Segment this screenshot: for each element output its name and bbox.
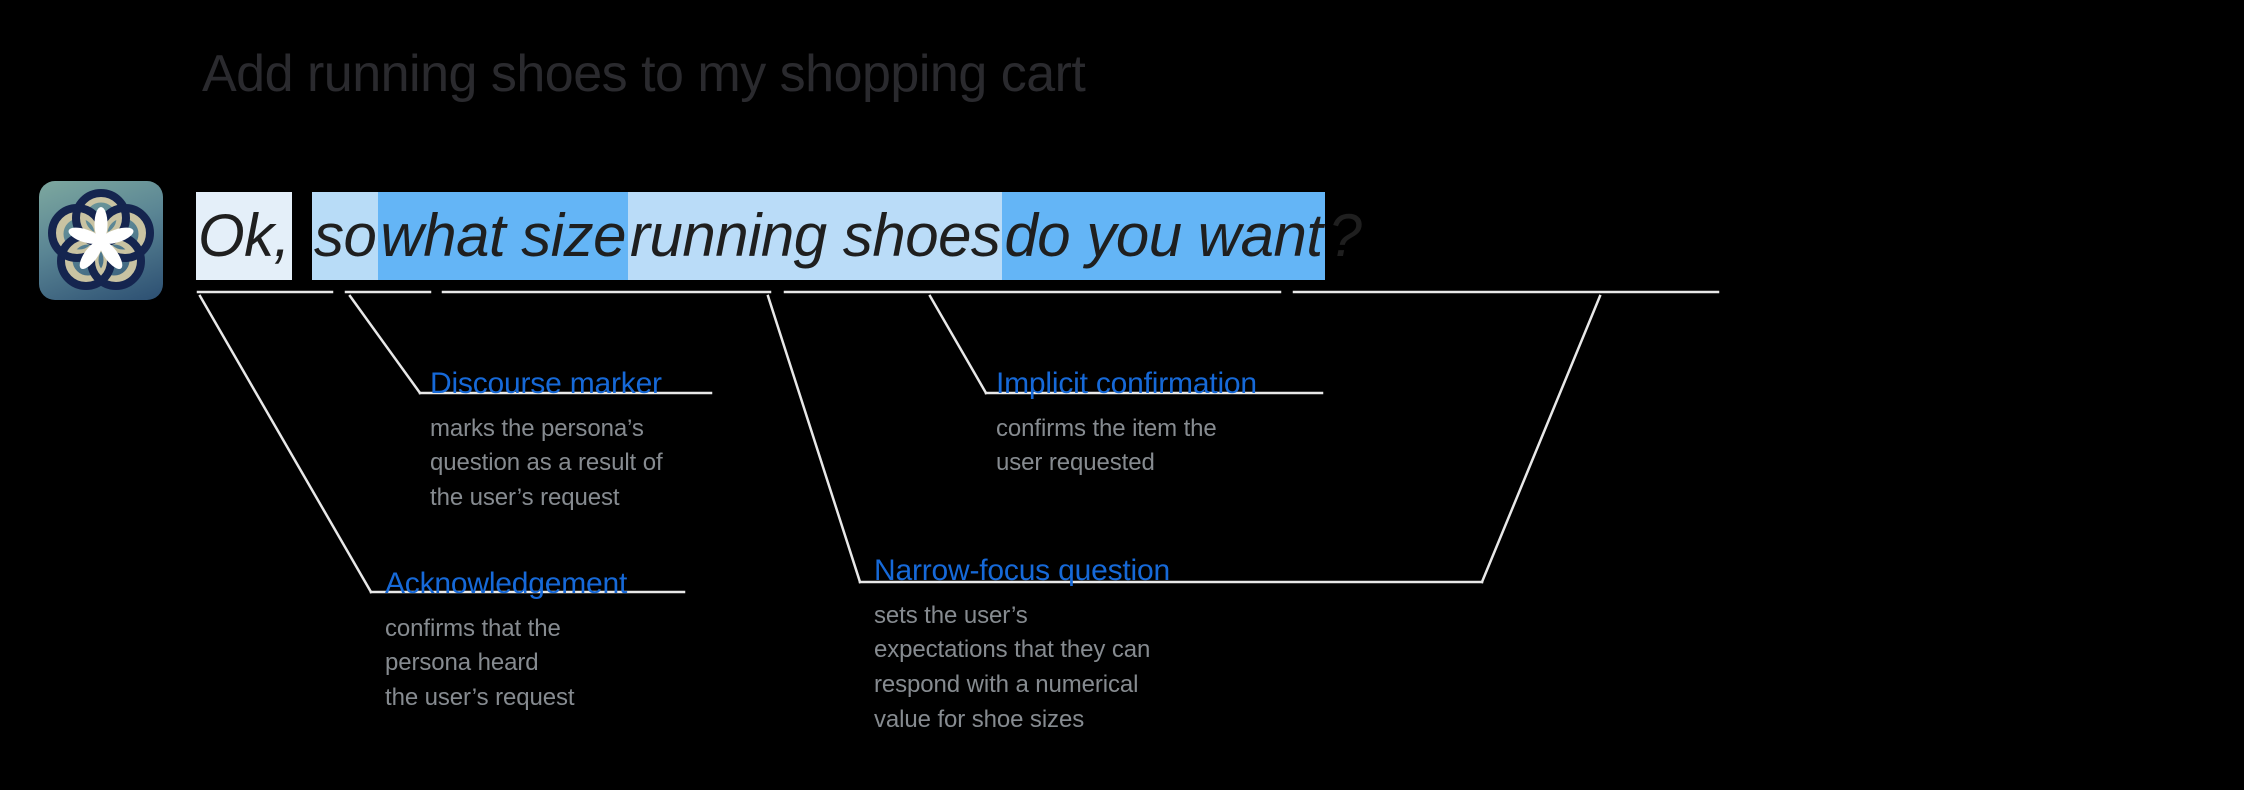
connector-so-to-discourse	[350, 296, 420, 393]
annotation-discourse-marker: Discourse marker marks the persona’s que…	[430, 368, 663, 516]
utterance-segment-so[interactable]: so	[312, 192, 378, 280]
annotation-line: persona heard	[385, 646, 627, 681]
utterance-segment-what-size[interactable]: what size	[378, 192, 628, 280]
annotation-acknowledgement: Acknowledgement confirms that the person…	[385, 568, 627, 716]
annotation-title[interactable]: Narrow-focus question	[874, 555, 1170, 587]
annotation-line: confirms the item the	[996, 412, 1257, 447]
connector-ok-to-acknowledgement	[200, 296, 371, 592]
connector-whatsize-to-narrow	[768, 296, 860, 582]
annotation-line: the user’s request	[430, 481, 663, 516]
annotation-title[interactable]: Implicit confirmation	[996, 368, 1257, 400]
annotation-line: confirms that the	[385, 612, 627, 647]
annotation-line: value for shoe sizes	[874, 703, 1170, 738]
persona-avatar	[39, 181, 163, 300]
persona-utterance: Ok, sowhat sizerunning shoesdo you want?	[196, 192, 1363, 280]
utterance-segment-do-you-want[interactable]: do you want	[1002, 192, 1324, 280]
annotation-implicit-confirmation: Implicit confirmation confirms the item …	[996, 368, 1257, 481]
annotation-line: respond with a numerical	[874, 668, 1170, 703]
utterance-segment-question-mark: ?	[1325, 192, 1364, 280]
annotation-body: sets the user’s expectations that they c…	[874, 599, 1170, 738]
annotation-body: confirms the item the user requested	[996, 412, 1257, 482]
utterance-segment-ok[interactable]: Ok,	[196, 192, 292, 280]
annotation-narrow-focus-question: Narrow-focus question sets the user’s ex…	[874, 555, 1170, 738]
annotation-title[interactable]: Discourse marker	[430, 368, 663, 400]
diagram-canvas: Add running shoes to my shopping cart	[0, 0, 2244, 790]
utterance-space	[292, 192, 312, 280]
annotation-line: user requested	[996, 446, 1257, 481]
annotation-line: the user’s request	[385, 681, 627, 716]
page-title: Add running shoes to my shopping cart	[202, 48, 1085, 100]
annotation-body: confirms that the persona heard the user…	[385, 612, 627, 716]
annotation-line: sets the user’s	[874, 599, 1170, 634]
annotation-line: question as a result of	[430, 446, 663, 481]
annotation-title[interactable]: Acknowledgement	[385, 568, 627, 600]
annotation-body: marks the persona’s question as a result…	[430, 412, 663, 516]
utterance-segment-running-shoes[interactable]: running shoes	[628, 192, 1002, 280]
annotation-line: expectations that they can	[874, 633, 1170, 668]
connector-runshoes-to-implicit	[930, 296, 986, 393]
annotation-line: marks the persona’s	[430, 412, 663, 447]
connector-doyouwant-to-narrow	[1482, 296, 1600, 582]
flower-rosette-icon	[39, 181, 163, 300]
